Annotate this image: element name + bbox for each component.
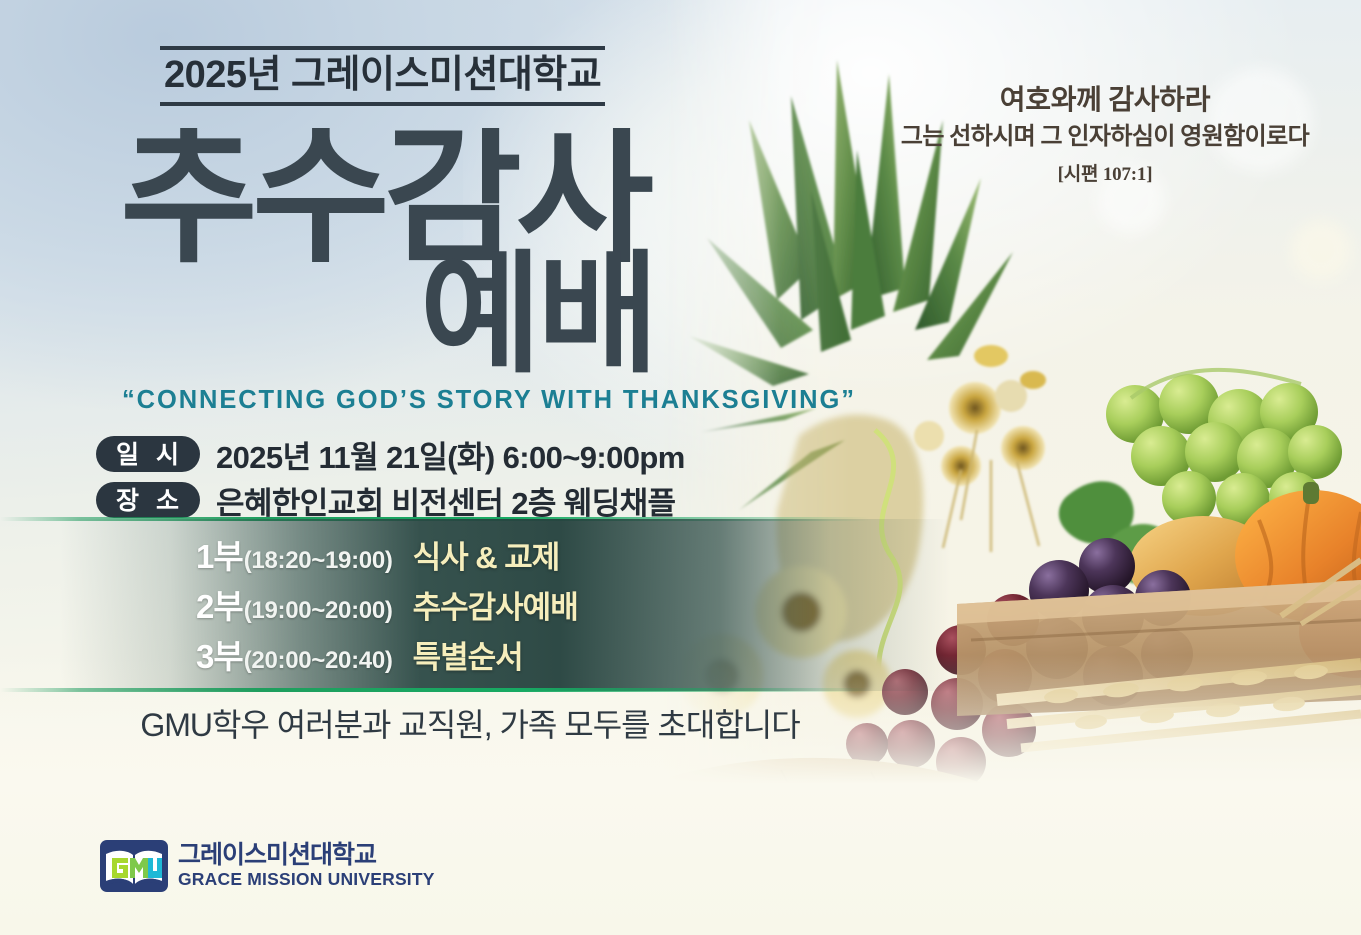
event-info: 일 시 2025년 11월 21일(화) 6:00~9:00pm 장 소 은혜한…: [96, 434, 685, 526]
program-title-1: 식사 & 교제: [413, 532, 560, 577]
english-subtitle: “CONNECTING GOD’S STORY WITH THANKSGIVIN…: [122, 386, 812, 415]
program-part-1: 1부: [196, 530, 243, 578]
invitation-text: GMU학우 여러분과 교직원, 가족 모두를 초대합니다: [100, 700, 840, 746]
program-row-2: 2부 (19:00~20:00) 추수감사예배: [196, 580, 666, 630]
gmu-book-icon: [100, 840, 168, 892]
program-title-2: 추수감사예배: [413, 582, 578, 627]
info-value-location: 은혜한인교회 비전센터 2층 웨딩채플: [216, 478, 675, 523]
verse-line-2: 그는 선하시며 그 인자하심이 영원함이로다: [870, 120, 1340, 155]
program-time-2: (19:00~20:00): [244, 597, 393, 625]
info-row-datetime: 일 시 2025년 11월 21일(화) 6:00~9:00pm: [96, 434, 685, 474]
main-title-calligraphy: 추수감사 예배: [120, 128, 740, 378]
program-title-3: 특별순서: [413, 632, 523, 677]
program-time-3: (20:00~20:40): [244, 647, 393, 675]
gmu-name-kr: 그레이스미션대학교: [178, 843, 435, 868]
poster-header: 2025년 그레이스미션대학교: [160, 46, 605, 106]
main-title-line-2: 예배: [420, 238, 655, 378]
gmu-logo: 그레이스미션대학교 GRACE MISSION UNIVERSITY: [100, 840, 435, 892]
program-time-1: (18:20~19:00): [244, 547, 393, 575]
program-part-3: 3부: [196, 630, 243, 678]
program-band-rule-bottom: [0, 688, 880, 692]
header-title: 2025년 그레이스미션대학교: [164, 53, 601, 98]
poster-canvas: HOLY BIBLE HOLY BIBLE 여호와께 감사하라 그는 선하시며 …: [0, 0, 1361, 935]
background-bottom-fade: [0, 655, 1361, 935]
verse-line-1: 여호와께 감사하라: [870, 82, 1340, 120]
program-row-1: 1부 (18:20~19:00) 식사 & 교제: [196, 530, 666, 580]
program-part-2: 2부: [196, 580, 243, 628]
bible-verse: 여호와께 감사하라 그는 선하시며 그 인자하심이 영원함이로다 [시편 107…: [870, 82, 1340, 186]
info-value-datetime: 2025년 11월 21일(화) 6:00~9:00pm: [216, 432, 685, 477]
program-row-3: 3부 (20:00~20:40) 특별순서: [196, 630, 666, 680]
info-label-location: 장 소: [96, 482, 200, 518]
info-label-datetime: 일 시: [96, 436, 200, 472]
gmu-name-en: GRACE MISSION UNIVERSITY: [178, 871, 435, 889]
verse-reference: [시편 107:1]: [870, 159, 1340, 186]
program-list: 1부 (18:20~19:00) 식사 & 교제 2부 (19:00~20:00…: [196, 530, 666, 680]
gmu-logo-text: 그레이스미션대학교 GRACE MISSION UNIVERSITY: [178, 843, 435, 889]
info-row-location: 장 소 은혜한인교회 비전센터 2층 웨딩채플: [96, 480, 685, 520]
